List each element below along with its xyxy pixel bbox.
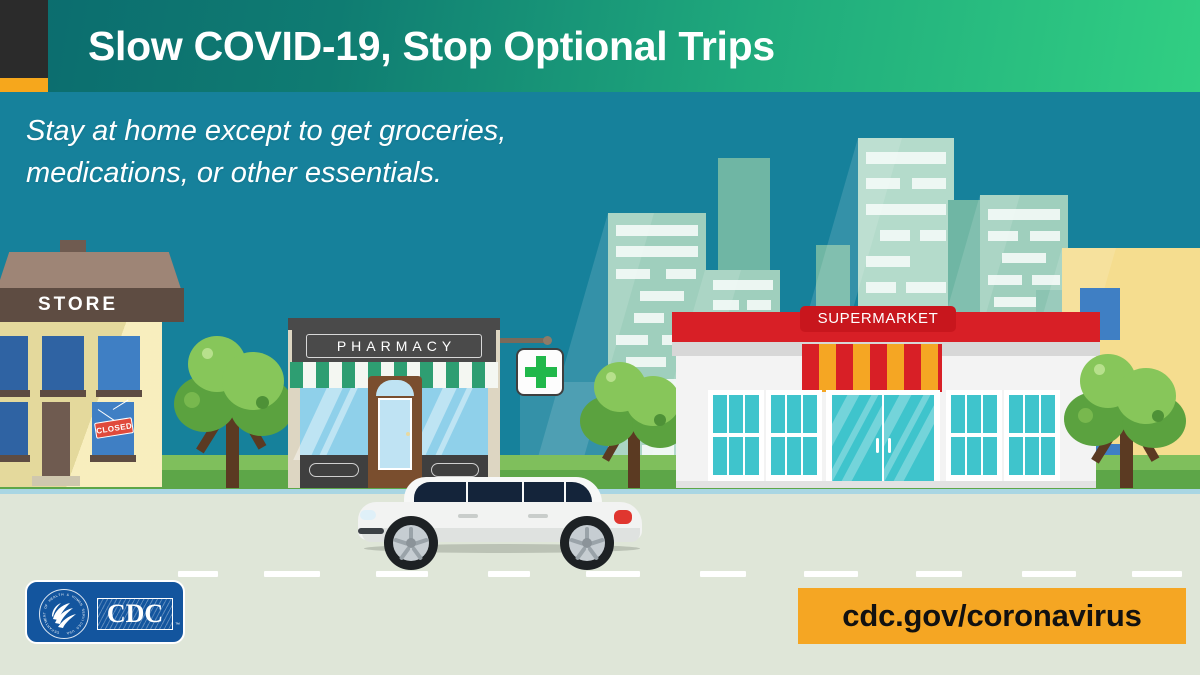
tree-foliage-dot [654,414,666,426]
store-sign-label: STORE [0,288,184,322]
lane-marking [376,571,428,577]
tree-foliage-dot [1078,408,1093,423]
car-wheel-front [384,516,438,570]
supermarket-window [946,390,1002,488]
supermarket-door-handle[interactable] [876,438,879,453]
tree-foliage-dot [202,348,213,359]
tree-foliage [626,376,680,426]
message-line-2: medications, or other essentials. [26,152,646,194]
supermarket-door-right[interactable] [884,395,934,483]
header-accent-orange [0,78,48,92]
tree-foliage-dot [1152,410,1164,422]
tree [580,358,690,488]
car-front-grille [358,528,384,534]
page-title: Slow COVID-19, Stop Optional Trips [88,0,775,92]
lane-marking [1132,571,1182,577]
store-window [42,336,84,390]
supermarket-window [1004,390,1060,488]
store-window [0,402,28,455]
store-window-sill [96,390,142,397]
supermarket-entrance[interactable] [826,390,940,488]
message-line-1: Stay at home except to get groceries, [26,110,646,152]
store-door[interactable] [42,402,70,480]
tree-foliage-dot [256,396,269,409]
store-window [0,336,28,390]
supermarket-sign-label: SUPERMARKET [800,306,956,332]
supermarket-base-sill [676,481,1096,488]
car-wheel-rear [560,516,614,570]
store-window [98,336,140,390]
store-entry-step [32,476,80,486]
lane-marking [488,571,530,577]
pharmacy-door-knob[interactable] [406,432,410,436]
store-window-sill [0,390,30,397]
lane-marking [1022,571,1076,577]
pharmacy-sign-rod [498,338,546,343]
tree-foliage-dot [184,392,200,408]
lane-marking [804,571,858,577]
cdc-wordmark: CDC [97,598,173,630]
header-accent-dark [0,0,48,78]
hhs-seal-icon: DEPARTMENT OF HEALTH & HUMAN SERVICES US… [39,589,89,639]
tree-foliage [1116,368,1176,424]
car [352,470,648,560]
pharmacy-sign-label: PHARMACY [306,334,482,358]
supermarket-door-left[interactable] [832,395,882,483]
tree-foliage-dot [606,372,616,382]
lane-marking [178,571,218,577]
trademark-mark: ™ [175,622,180,628]
pharmacy-sign-rod-tip [543,336,552,345]
lane-marking [700,571,746,577]
store-window-sill [90,455,136,462]
tree [172,330,296,488]
tree-foliage-dot [1094,364,1105,375]
message-text: Stay at home except to get groceries, me… [26,110,646,194]
supermarket-window [766,390,822,488]
store-window-sill [40,390,86,397]
car-door-handle [528,514,548,518]
tree-foliage [222,352,284,410]
supermarket-window [708,390,764,488]
tree [1064,348,1190,488]
car-taillight [614,510,632,524]
url-badge[interactable]: cdc.gov/coronavirus [798,588,1186,644]
pharmacy-cornice [288,318,500,330]
lane-marking [264,571,320,577]
supermarket-door-handle[interactable] [888,438,891,453]
store-window-sill [0,455,30,462]
pharmacy-cross-icon [525,367,557,377]
lane-marking [916,571,962,577]
car-door-handle [458,514,478,518]
lane-marking [586,571,640,577]
cdc-covid-poster: STORE CLOSED [0,0,1200,675]
car-headlight [360,510,376,520]
cdc-logo: DEPARTMENT OF HEALTH & HUMAN SERVICES US… [25,580,185,644]
